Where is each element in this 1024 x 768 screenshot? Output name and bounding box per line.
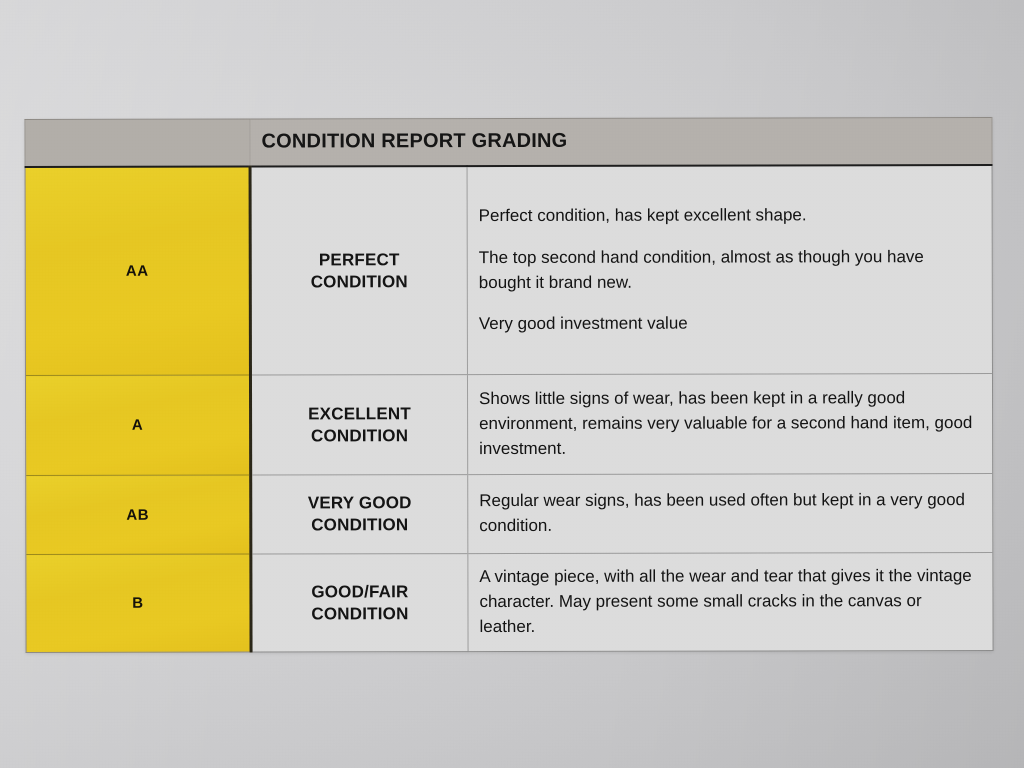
table-row: AA PERFECT CONDITION Perfect condition, … [25,165,992,376]
condition-name-line-2: CONDITION [311,604,408,623]
condition-name-line-1: EXCELLENT [308,404,411,423]
description-aa: Perfect condition, has kept excellent sh… [467,165,992,375]
table-row: A EXCELLENT CONDITION Shows little signs… [25,373,992,475]
grade-code-ab: AB [26,475,251,554]
condition-name-ab: VERY GOOD CONDITION [251,475,468,554]
grade-code-a: A [25,375,250,475]
header-blank-cell [25,119,250,167]
condition-name-line-1: VERY GOOD [308,493,412,512]
condition-report-grading-table: CONDITION REPORT GRADING AA PERFECT COND… [24,117,993,653]
table-header-row: CONDITION REPORT GRADING [25,117,992,167]
condition-name-a: EXCELLENT CONDITION [250,375,467,475]
table-title: CONDITION REPORT GRADING [250,117,992,166]
table-row: AB VERY GOOD CONDITION Regular wear sign… [26,473,993,554]
description-a: Shows little signs of wear, has been kep… [467,373,992,474]
description-b: A vintage piece, with all the wear and t… [468,552,993,651]
grade-code-b: B [26,554,251,652]
grade-code-aa: AA [25,167,250,376]
condition-name-b: GOOD/FAIR CONDITION [251,554,468,652]
description-paragraph: A vintage piece, with all the wear and t… [479,564,980,640]
description-paragraph: Very good investment value [479,311,980,337]
condition-name-line-2: CONDITION [311,515,408,534]
condition-name-line-2: CONDITION [311,272,408,291]
description-ab: Regular wear signs, has been used often … [468,473,993,553]
condition-name-line-1: GOOD/FAIR [311,582,408,601]
description-paragraph: Perfect condition, has kept excellent sh… [479,203,980,229]
condition-name-aa: PERFECT CONDITION [250,166,467,375]
table-row: B GOOD/FAIR CONDITION A vintage piece, w… [26,552,993,652]
condition-name-line-2: CONDITION [311,426,408,445]
condition-name-line-1: PERFECT [319,250,400,269]
description-paragraph: Shows little signs of wear, has been kep… [479,386,980,462]
description-paragraph: Regular wear signs, has been used often … [479,488,980,539]
description-paragraph: The top second hand condition, almost as… [479,245,980,296]
